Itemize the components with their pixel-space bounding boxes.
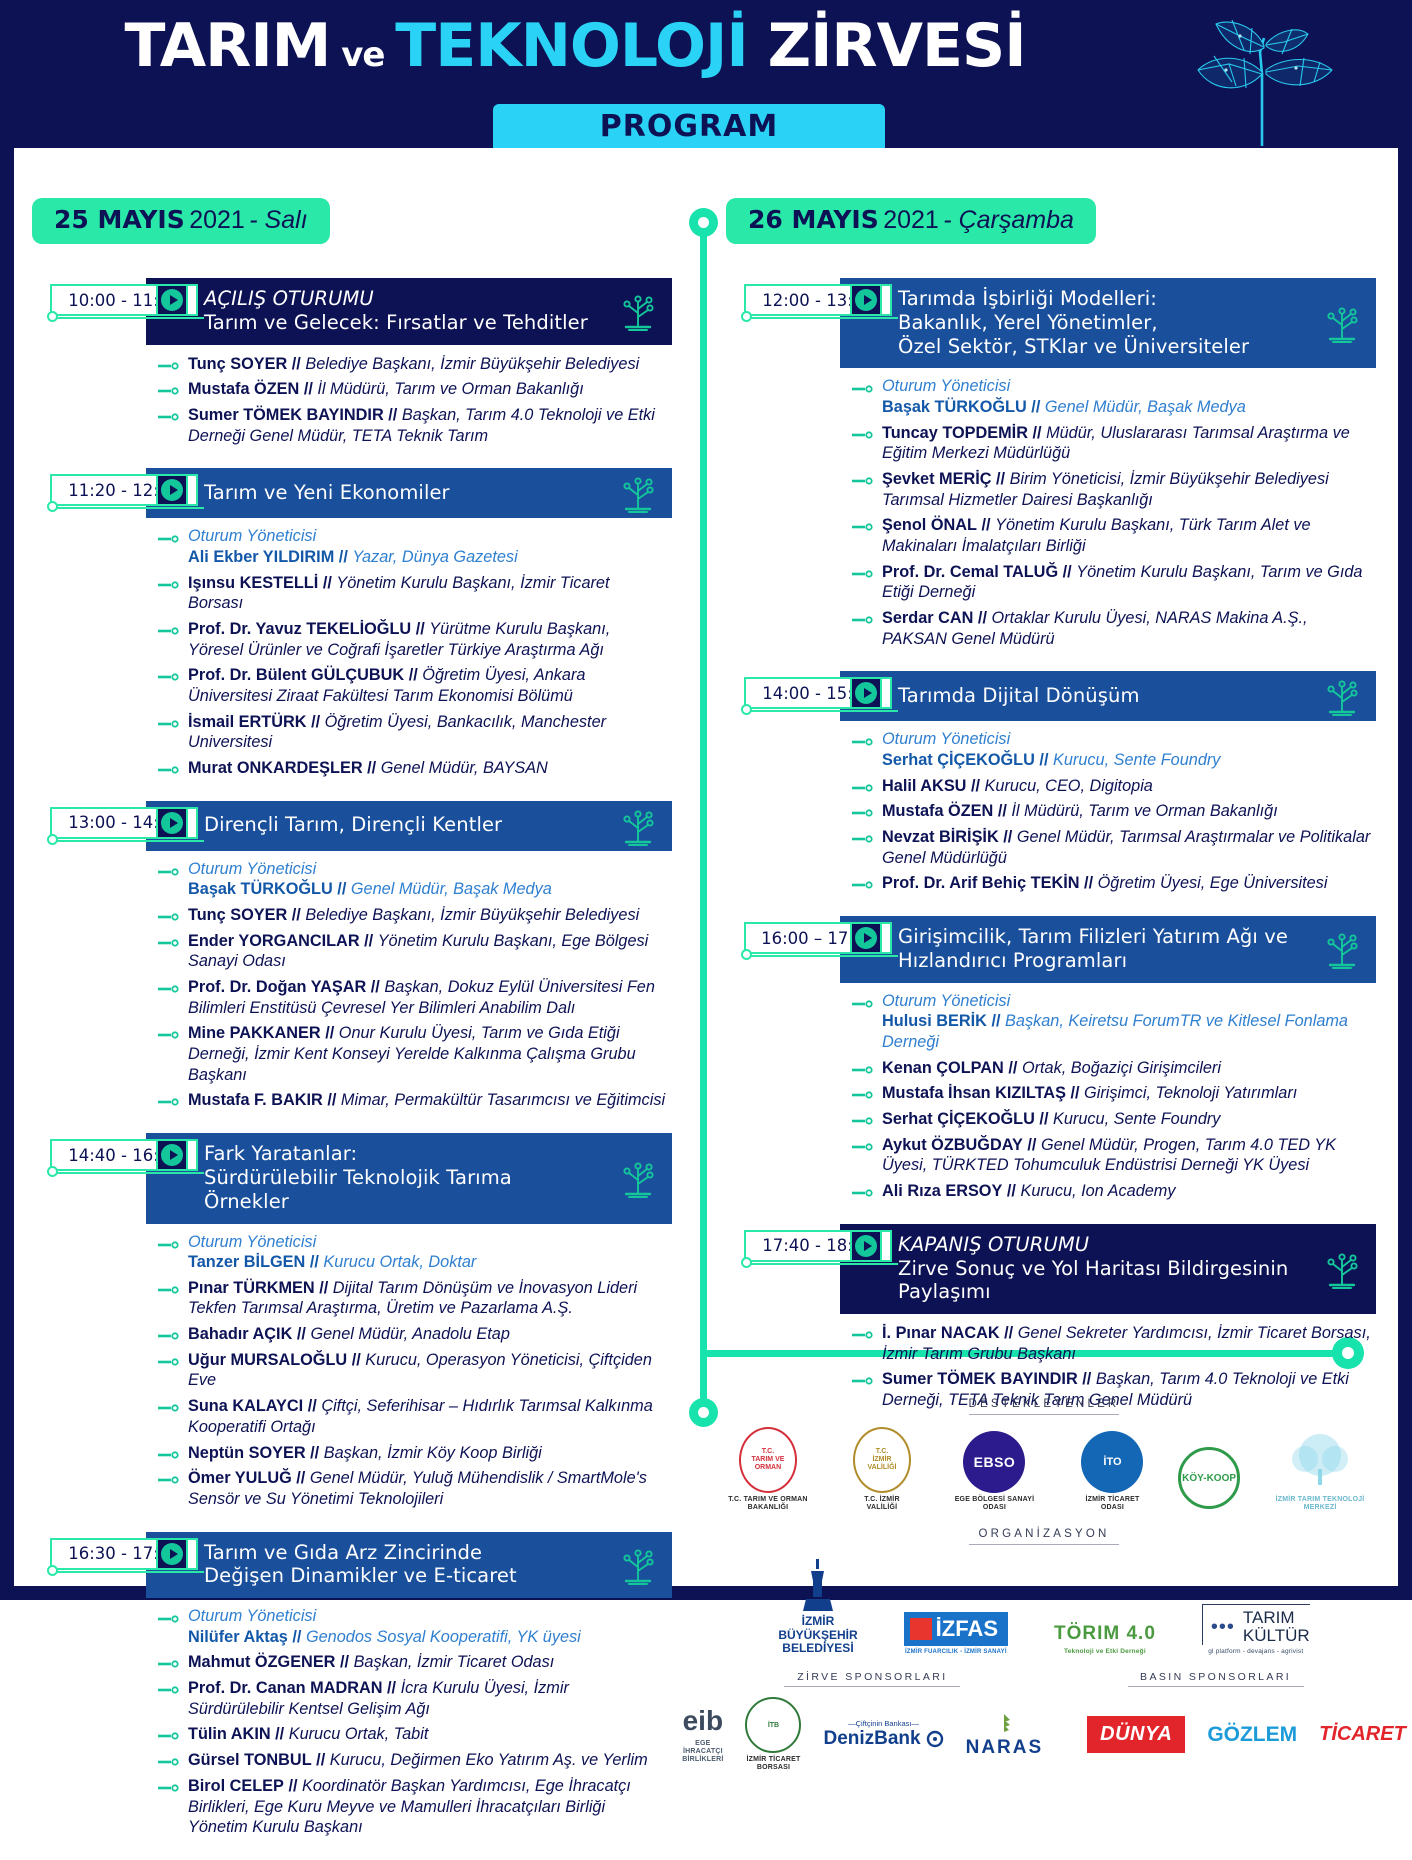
session-speaker: Bahadır AÇIK // Genel Müdür, Anadolu Eta…	[158, 1324, 668, 1345]
circuit-plant-icon	[1320, 1247, 1364, 1291]
separator: //	[319, 1279, 333, 1297]
izmir-buyuksehir-belediyesi-logo: İZMİR BÜYÜKŞEHİR BELEDİYESİ	[778, 1557, 857, 1655]
speaker-list: Oturum Yöneticisi Başak TÜRKOĞLU // Gene…	[158, 860, 672, 1111]
poster-frame: TARIM ve TEKNOLOJİ ZİRVESİ PROGRAM	[0, 0, 1412, 1600]
session-title-line: AÇILIŞ OTURUMU	[204, 287, 598, 311]
arrow-bullet-icon	[158, 1615, 180, 1623]
separator: //	[388, 406, 402, 424]
speaker-list: Oturum Yöneticisi Nilüfer Aktaş // Genod…	[158, 1607, 672, 1838]
session-speaker: Mustafa F. BAKIR // Mimar, Permakültür T…	[158, 1090, 668, 1111]
arrow-bullet-icon	[852, 881, 874, 889]
arrow-bullet-icon	[852, 523, 874, 531]
speaker-name: Sumer TÖMEK BAYINDIR	[882, 1370, 1078, 1388]
arrow-bullet-icon	[158, 673, 180, 681]
speaker-name: İ. Pınar NACAK	[882, 1324, 1000, 1342]
speaker-name: Şenol ÖNAL	[882, 516, 977, 534]
moderator-name: Serhat ÇİÇEKOĞLU	[882, 751, 1035, 769]
program-sheet: 25 MAYIS 2021 - Salı 10:00 - 11:00 AÇILI…	[14, 148, 1398, 1586]
speaker-name: Serhat ÇİÇEKOĞLU	[882, 1110, 1035, 1128]
speaker-name: Ali Rıza ERSOY	[882, 1182, 1002, 1200]
session-play-button[interactable]	[850, 1230, 882, 1262]
arrow-bullet-icon	[158, 985, 180, 993]
bottom-logo-row: eib EGE İHRACATÇI BİRLİKLERİ İTB İZMİR T…	[714, 1697, 1374, 1772]
arrow-bullet-icon	[158, 1098, 180, 1106]
speaker-role: Öğretim Üyesi, Ege Üniversitesi	[1098, 874, 1328, 892]
separator: //	[288, 1777, 302, 1795]
speaker-name: Işınsu KESTELLİ	[188, 574, 318, 592]
separator: //	[1032, 424, 1046, 442]
day-year: 2021	[189, 206, 245, 234]
speaker-name: Ender YORGANCILAR	[188, 932, 360, 950]
moderator-role: Kurucu Ortak, Doktar	[323, 1253, 476, 1271]
session-speaker: Mustafa İhsan KIZILTAŞ // Girişimci, Tek…	[852, 1083, 1372, 1104]
speaker-name: Sumer TÖMEK BAYINDIR	[188, 406, 384, 424]
session-moderator: Oturum Yöneticisi Tanzer BİLGEN // Kuruc…	[158, 1233, 668, 1273]
circuit-plant-icon	[616, 289, 660, 333]
session-title-line: Zirve Sonuç ve Yol Haritası Bildirgesini…	[898, 1257, 1302, 1305]
separator: //	[1007, 1182, 1021, 1200]
session-speaker: Tunç SOYER // Belediye Başkanı, İzmir Bü…	[158, 354, 668, 375]
arrow-bullet-icon	[158, 939, 180, 947]
circuit-plant-icon	[1320, 927, 1364, 971]
arrow-bullet-icon	[852, 809, 874, 817]
circuit-plant-icon	[1320, 674, 1364, 718]
session-speaker: Prof. Dr. Canan MADRAN // İcra Kurulu Üy…	[158, 1678, 668, 1719]
moderator-name: Tanzer BİLGEN	[188, 1253, 305, 1271]
arrow-bullet-icon	[852, 1000, 874, 1008]
sponsor-tier-headers: ZİRVE SPONSORLARI BASIN SPONSORLARI	[714, 1671, 1374, 1697]
session-speaker: Sumer TÖMEK BAYINDIR // Başkan, Tarım 4.…	[158, 405, 668, 446]
speaker-name: Gürsel TONBUL	[188, 1751, 312, 1769]
session-speaker: Serhat ÇİÇEKOĞLU // Kurucu, Sente Foundr…	[852, 1109, 1372, 1130]
separator: //	[308, 1397, 322, 1415]
summit-sponsors-title: ZİRVE SPONSORLARI	[714, 1671, 1031, 1683]
speaker-role: Kurucu, Sente Foundry	[1053, 1110, 1220, 1128]
moderator-role: Genel Müdür, Başak Medya	[351, 880, 552, 898]
speaker-list: Oturum Yöneticisi Hulusi BERİK // Başkan…	[852, 992, 1376, 1202]
gozlem-logo: GÖZLEM	[1207, 1723, 1297, 1747]
day-date: 25 MAYIS	[54, 205, 185, 234]
speaker-name: Serdar CAN	[882, 609, 973, 627]
separator: //	[996, 470, 1010, 488]
session-speaker: Prof. Dr. Yavuz TEKELİOĞLU // Yürütme Ku…	[158, 619, 668, 660]
moderator-label: Oturum Yöneticisi	[882, 992, 1372, 1012]
separator: //	[316, 1751, 330, 1769]
moderator-role: Genodos Sosyal Kooperatifi, YK üyesi	[306, 1628, 581, 1646]
session-speaker: Kenan ÇOLPAN // Ortak, Boğaziçi Girişimc…	[852, 1058, 1372, 1079]
session-speaker: Gürsel TONBUL // Kurucu, Değirmen Eko Ya…	[158, 1750, 668, 1771]
separator: //	[998, 802, 1012, 820]
session-header[interactable]: Tarımda İşbirliği Modelleri:Bakanlık, Ye…	[840, 278, 1376, 368]
press-sponsors-title: BASIN SPONSORLARI	[1057, 1671, 1374, 1683]
session-title-line: Dirençli Tarım, Dirençli Kentler	[204, 813, 598, 837]
speaker-role: Ortak, Boğaziçi Girişimcileri	[1022, 1059, 1221, 1077]
moderator-name: Ali Ekber YILDIRIM	[188, 548, 334, 566]
speaker-name: Prof. Dr. Yavuz TEKELİOĞLU	[188, 620, 411, 638]
timeline-dot-top	[689, 208, 718, 237]
circuit-plant-icon	[616, 1156, 660, 1200]
moderator-label: Oturum Yöneticisi	[188, 1233, 668, 1253]
separator: //	[1004, 1324, 1018, 1342]
separator: //	[387, 1679, 401, 1697]
session-speaker: İsmail ERTÜRK // Öğretim Üyesi, Bankacıl…	[158, 712, 668, 753]
izmir-tarim-teknoloji-merkezi-logo: İZMİR TARIM TEKNOLOJİ MERKEZİ	[1266, 1431, 1374, 1512]
arrow-bullet-icon	[158, 1784, 180, 1792]
tc-izmir-valiligi-logo: T.C.İZMİRVALİLİĞİ T.C. İZMİR VALİLİĞİ	[848, 1427, 916, 1512]
separator: //	[352, 1351, 366, 1369]
izfas-logo: İZFAS İZMİR FUARCILIK - İZMİR SANAYİ	[904, 1612, 1008, 1656]
session-moderator: Oturum Yöneticisi Serhat ÇİÇEKOĞLU // Ku…	[852, 730, 1372, 770]
circuit-plant-icon	[616, 1543, 660, 1587]
speaker-name: Uğur MURSALOĞLU	[188, 1351, 347, 1369]
session-title-line: Tarım ve Gelecek: Fırsatlar ve Tehditler	[204, 311, 598, 335]
arrow-bullet-icon	[852, 738, 874, 746]
speaker-role: Girişimci, Teknoloji Yatırımları	[1084, 1084, 1297, 1102]
speaker-name: Birol CELEP	[188, 1777, 284, 1795]
speaker-name: Suna KALAYCI	[188, 1397, 303, 1415]
speaker-name: Mustafa ÖZEN	[882, 802, 993, 820]
separator: //	[296, 1469, 310, 1487]
speaker-name: Prof. Dr. Canan MADRAN	[188, 1679, 382, 1697]
session-play-button[interactable]	[156, 807, 188, 839]
speaker-name: Halil AKSU	[882, 777, 966, 795]
separator: //	[409, 666, 423, 684]
speaker-name: Mustafa ÖZEN	[188, 380, 299, 398]
arrow-bullet-icon	[852, 1066, 874, 1074]
arrow-bullet-icon	[158, 1031, 180, 1039]
speaker-role: Başkan, İzmir Köy Koop Birliği	[324, 1444, 542, 1462]
session-block: 11:20 - 12:40 Tarım ve Yeni Ekonomiler	[32, 468, 672, 778]
session-header[interactable]: Girişimcilik, Tarım Filizleri Yatırım Ağ…	[840, 916, 1376, 983]
separator: //	[1039, 751, 1053, 769]
session-moderator: Oturum Yöneticisi Başak TÜRKOĞLU // Gene…	[158, 860, 668, 900]
arrow-bullet-icon	[852, 1377, 874, 1385]
moderator-name: Başak TÜRKOĞLU	[882, 398, 1027, 416]
tarim-kultur-logo: ••• TARIM KÜLTÜR gl platform - devajans …	[1202, 1604, 1310, 1655]
arrow-bullet-icon	[158, 413, 180, 421]
arrow-bullet-icon	[158, 1404, 180, 1412]
session-moderator: Oturum Yöneticisi Ali Ekber YILDIRIM // …	[158, 527, 668, 567]
speaker-name: Tuncay TOPDEMİR	[882, 424, 1028, 442]
session-title-line: Hızlandırıcı Programları	[898, 949, 1302, 973]
speaker-name: Prof. Dr. Doğan YAŞAR	[188, 978, 366, 996]
arrow-bullet-icon	[158, 868, 180, 876]
session-play-button[interactable]	[850, 677, 882, 709]
session-title-line: Bakanlık, Yerel Yönetimler,	[898, 311, 1302, 335]
supporters-title: DESTEKLEYENLER	[714, 1398, 1374, 1410]
supporters-block: DESTEKLEYENLER T.C.TARIM VEORMAN T.C. TA…	[714, 1398, 1374, 1512]
izmir-ticaret-borsasi-logo: İTB İZMİR TİCARET BORSASI	[745, 1697, 801, 1772]
session-title-line: Tarımda İşbirliği Modelleri:	[898, 287, 1302, 311]
separator: //	[304, 380, 318, 398]
session-play-button[interactable]	[156, 474, 188, 506]
session-title-line: Fark Yaratanlar:	[204, 1142, 598, 1166]
session-speaker: Şevket MERİÇ // Birim Yöneticisi, İzmir …	[852, 469, 1372, 510]
separator: //	[1027, 1136, 1041, 1154]
naras-logo: NARAS	[966, 1711, 1044, 1759]
arrow-bullet-icon	[852, 1143, 874, 1151]
arrow-bullet-icon	[852, 835, 874, 843]
session-speaker: Tuncay TOPDEMİR // Müdür, Uluslararası T…	[852, 423, 1372, 464]
session-title-line: KAPANIŞ OTURUMU	[898, 1233, 1302, 1257]
day-date: 26 MAYIS	[748, 205, 879, 234]
circuit-plant-icon	[616, 804, 660, 848]
session-moderator: Oturum Yöneticisi Hulusi BERİK // Başkan…	[852, 992, 1372, 1053]
arrow-bullet-icon	[158, 1241, 180, 1249]
session-speaker: Mahmut ÖZGENER // Başkan, İzmir Ticaret …	[158, 1652, 668, 1673]
page-title: TARIM ve TEKNOLOJİ ZİRVESİ	[0, 16, 1150, 76]
speaker-name: Mahmut ÖZGENER	[188, 1653, 335, 1671]
session-speaker: Pınar TÜRKMEN // Dijital Tarım Dönüşüm v…	[158, 1278, 668, 1319]
arrow-bullet-icon	[158, 1732, 180, 1740]
moderator-label: Oturum Yöneticisi	[188, 527, 668, 547]
session-header[interactable]: Tarım ve Gıda Arz ZincirindeDeğişen Dina…	[146, 1532, 672, 1599]
speaker-role: Kurucu, CEO, Digitopia	[985, 777, 1153, 795]
separator: //	[310, 1253, 324, 1271]
session-block: 16:00 – 17:20 Girişimcilik, Tarım Filizl…	[726, 916, 1376, 1202]
arrow-bullet-icon	[158, 1660, 180, 1668]
session-speaker: Nevzat BİRİŞİK // Genel Müdür, Tarımsal …	[852, 827, 1372, 868]
organization-logo-row: İZMİR BÜYÜKŞEHİR BELEDİYESİ İZFAS İZMİR …	[714, 1557, 1374, 1655]
speaker-role: Kurucu, Değirmen Eko Yatırım Aş. ve Yerl…	[330, 1751, 648, 1769]
session-play-button[interactable]	[850, 922, 882, 954]
session-play-button[interactable]	[156, 1538, 188, 1570]
session-block: 10:00 - 11:00 AÇILIŞ OTURUMUTarım ve Gel…	[32, 278, 672, 446]
session-speaker: Şenol ÖNAL // Yönetim Kurulu Başkanı, Tü…	[852, 515, 1372, 556]
session-block: 13:00 - 14:20 Dirençli Tarım, Dirençli K…	[32, 801, 672, 1111]
arrow-bullet-icon	[158, 766, 180, 774]
session-play-button[interactable]	[156, 1139, 188, 1171]
day-weekday: - Çarşamba	[943, 206, 1074, 234]
separator: //	[1008, 1059, 1022, 1077]
tc-tarim-orman-bakanligi-logo: T.C.TARIM VEORMAN T.C. TARIM VE ORMAN BA…	[714, 1427, 822, 1512]
session-speaker: Mine PAKKANER // Onur Kurulu Üyesi, Tarı…	[158, 1023, 668, 1085]
session-speaker: Mustafa ÖZEN // İl Müdürü, Tarım ve Orma…	[852, 801, 1372, 822]
separator: //	[1082, 1370, 1096, 1388]
arrow-bullet-icon	[852, 1331, 874, 1339]
arrow-bullet-icon	[852, 616, 874, 624]
arrow-bullet-icon	[158, 720, 180, 728]
speaker-name: Prof. Dr. Bülent GÜLÇUBUK	[188, 666, 404, 684]
supporters-logo-row: T.C.TARIM VEORMAN T.C. TARIM VE ORMAN BA…	[714, 1427, 1374, 1512]
sponsors-section: DESTEKLEYENLER T.C.TARIM VEORMAN T.C. TA…	[714, 1398, 1374, 1773]
speaker-name: Mine PAKKANER	[188, 1024, 321, 1042]
arrow-bullet-icon	[158, 1286, 180, 1294]
moderator-label: Oturum Yöneticisi	[188, 1607, 668, 1627]
session-speaker: Prof. Dr. Doğan YAŞAR // Başkan, Dokuz E…	[158, 977, 668, 1018]
separator: //	[1039, 1110, 1053, 1128]
koy-koop-logo: KÖY-KOOP	[1178, 1447, 1240, 1512]
moderator-label: Oturum Yöneticisi	[882, 730, 1372, 750]
session-title-line: Tarım ve Yeni Ekonomiler	[204, 481, 598, 505]
separator: //	[416, 620, 430, 638]
session-header[interactable]: Dirençli Tarım, Dirençli Kentler	[146, 801, 672, 851]
separator: //	[292, 355, 306, 373]
arrow-bullet-icon	[158, 535, 180, 543]
speaker-role: Başkan, İzmir Ticaret Odası	[354, 1653, 555, 1671]
eib-logo: eib EGE İHRACATÇI BİRLİKLERİ	[682, 1705, 723, 1764]
ticaret-gazetesi-logo: TİCARET	[1319, 1723, 1406, 1746]
moderator-name: Nilüfer Aktaş	[188, 1628, 288, 1646]
dunya-gazetesi-logo: DÜNYA	[1087, 1716, 1185, 1753]
session-header[interactable]: KAPANIŞ OTURUMUZirve Sonuç ve Yol Harita…	[840, 1224, 1376, 1314]
session-speaker: Aykut ÖZBUĞDAY // Genel Müdür, Progen, T…	[852, 1135, 1372, 1176]
denizbank-wheel-icon	[926, 1730, 944, 1748]
session-title-line: Sürdürülebilir Teknolojik Tarıma Örnekle…	[204, 1166, 598, 1214]
moderator-name: Hulusi BERİK	[882, 1012, 987, 1030]
speaker-name: Mustafa İhsan KIZILTAŞ	[882, 1084, 1066, 1102]
program-badge: PROGRAM	[493, 104, 885, 148]
separator: //	[971, 777, 985, 795]
arrow-bullet-icon	[158, 581, 180, 589]
day-badge: 25 MAYIS 2021 - Salı	[32, 198, 330, 244]
naras-leaf-icon	[991, 1711, 1017, 1737]
speaker-name: Tunç SOYER	[188, 906, 287, 924]
speaker-list: Tunç SOYER // Belediye Başkanı, İzmir Bü…	[158, 354, 672, 447]
speaker-role: Belediye Başkanı, İzmir Büyükşehir Beled…	[305, 355, 639, 373]
separator: //	[339, 548, 353, 566]
session-block: 14:00 - 15:40 Tarımda Dijital Dönüşüm	[726, 671, 1376, 894]
session-speaker: Uğur MURSALOĞLU // Kurucu, Operasyon Yön…	[158, 1350, 668, 1391]
title-part1: TARIM	[124, 11, 330, 81]
session-speaker: Suna KALAYCI // Çiftçi, Seferihisar – Hı…	[158, 1396, 668, 1437]
arrow-bullet-icon	[158, 913, 180, 921]
title-ve: ve	[330, 35, 395, 75]
session-speaker: Ender YORGANCILAR // Yönetim Kurulu Başk…	[158, 931, 668, 972]
separator: //	[292, 906, 306, 924]
clock-tower-icon	[800, 1557, 836, 1615]
speaker-name: Kenan ÇOLPAN	[882, 1059, 1004, 1077]
speaker-name: İsmail ERTÜRK	[188, 713, 307, 731]
session-speaker: Birol CELEP // Koordinatör Başkan Yardım…	[158, 1776, 668, 1838]
separator: //	[1031, 398, 1045, 416]
day-column-right: 26 MAYIS 2021 - Çarşamba 12:00 - 13:40 T…	[726, 198, 1376, 1433]
arrow-bullet-icon	[852, 477, 874, 485]
session-speaker: Ömer YULUĞ // Genel Müdür, Yuluğ Mühendi…	[158, 1468, 668, 1509]
separator: //	[367, 759, 381, 777]
separator: //	[978, 609, 992, 627]
session-header[interactable]: Tarımda Dijital Dönüşüm	[840, 671, 1376, 721]
separator: //	[323, 574, 337, 592]
speaker-role: Genel Müdür, Anadolu Etap	[310, 1325, 509, 1343]
speaker-name: Neptün SOYER	[188, 1444, 306, 1462]
speaker-name: Ömer YULUĞ	[188, 1469, 292, 1487]
circuit-plant-icon	[1320, 301, 1364, 345]
separator: //	[1084, 874, 1098, 892]
session-block: 16:30 - 17:50 Tarım ve Gıda Arz Zincirin…	[32, 1532, 672, 1838]
speaker-role: İl Müdürü, Tarım ve Orman Bakanlığı	[317, 380, 583, 398]
session-block: 12:00 - 13:40 Tarımda İşbirliği Modeller…	[726, 278, 1376, 649]
arrow-bullet-icon	[852, 570, 874, 578]
arrow-bullet-icon	[158, 1451, 180, 1459]
speaker-role: Kurucu Ortak, Tabit	[289, 1725, 429, 1743]
moderator-label: Oturum Yöneticisi	[188, 860, 668, 880]
session-header[interactable]: Tarım ve Yeni Ekonomiler	[146, 468, 672, 518]
session-title-line: Tarım ve Gıda Arz Zincirinde	[204, 1541, 598, 1565]
speaker-list: Oturum Yöneticisi Tanzer BİLGEN // Kuruc…	[158, 1233, 672, 1510]
poster-header: TARIM ve TEKNOLOJİ ZİRVESİ PROGRAM	[0, 0, 1412, 148]
speaker-name: Tunç SOYER	[188, 355, 287, 373]
arrow-bullet-icon	[852, 1117, 874, 1125]
separator: //	[364, 932, 378, 950]
speaker-name: Aykut ÖZBUĞDAY	[882, 1136, 1023, 1154]
session-title-line: Özel Sektör, STKlar ve Üniversiteler	[898, 335, 1302, 359]
speaker-role: İl Müdürü, Tarım ve Orman Bakanlığı	[1011, 802, 1277, 820]
speaker-list: Oturum Yöneticisi Serhat ÇİÇEKOĞLU // Ku…	[852, 730, 1376, 894]
session-speaker: Tülin AKIN // Kurucu Ortak, Tabit	[158, 1724, 668, 1745]
session-moderator: Oturum Yöneticisi Başak TÜRKOĞLU // Gene…	[852, 377, 1372, 417]
arrow-bullet-icon	[158, 1358, 180, 1366]
speaker-role: Mimar, Permakültür Tasarımcısı ve Eğitim…	[341, 1091, 665, 1109]
session-moderator: Oturum Yöneticisi Nilüfer Aktaş // Genod…	[158, 1607, 668, 1647]
speaker-name: Nevzat BİRİŞİK	[882, 828, 999, 846]
arrow-bullet-icon	[158, 1332, 180, 1340]
arrow-bullet-icon	[158, 387, 180, 395]
title-part3: ZİRVESİ	[768, 11, 1026, 81]
separator: //	[982, 516, 996, 534]
session-block: 17:40 - 18:30 KAPANIŞ OTURUMUZirve Sonuç…	[726, 1224, 1376, 1411]
speaker-name: Tülin AKIN	[188, 1725, 271, 1743]
session-play-button[interactable]	[850, 284, 882, 316]
session-play-button[interactable]	[156, 284, 188, 316]
arrow-bullet-icon	[852, 784, 874, 792]
moderator-role: Genel Müdür, Başak Medya	[1045, 398, 1246, 416]
izmir-ticaret-odasi-logo: İTO İZMİR TİCARET ODASI	[1073, 1431, 1152, 1512]
separator: //	[1070, 1084, 1084, 1102]
separator: //	[292, 1628, 306, 1646]
speaker-role: Genel Müdür, BAYSAN	[381, 759, 548, 777]
arrow-bullet-icon	[158, 362, 180, 370]
session-speaker: Prof. Dr. Arif Behiç TEKİN // Öğretim Üy…	[852, 873, 1372, 894]
separator: //	[325, 1024, 339, 1042]
session-title-line: Girişimcilik, Tarım Filizleri Yatırım Ağ…	[898, 925, 1302, 949]
session-header[interactable]: Fark Yaratanlar:Sürdürülebilir Teknoloji…	[146, 1133, 672, 1223]
program-badge-label: PROGRAM	[600, 109, 778, 144]
session-header[interactable]: AÇILIŞ OTURUMUTarım ve Gelecek: Fırsatla…	[146, 278, 672, 345]
session-speaker: Ali Rıza ERSOY // Kurucu, Ion Academy	[852, 1181, 1372, 1202]
separator: //	[340, 1653, 354, 1671]
moderator-role: Yazar, Dünya Gazetesi	[352, 548, 517, 566]
moderator-label: Oturum Yöneticisi	[882, 377, 1372, 397]
session-speaker: Neptün SOYER // Başkan, İzmir Köy Koop B…	[158, 1443, 668, 1464]
moderator-role: Kurucu, Sente Foundry	[1053, 751, 1220, 769]
organization-block: ORGANİZASYON İZMİR BÜYÜKŞEHİR BELEDİYESİ	[714, 1528, 1374, 1655]
speaker-name: Mustafa F. BAKIR	[188, 1091, 323, 1109]
timeline-connector	[688, 208, 718, 1574]
ebso-logo: EBSO EGE BÖLGESİ SANAYİ ODASI	[942, 1431, 1047, 1512]
session-speaker: Prof. Dr. Bülent GÜLÇUBUK // Öğretim Üye…	[158, 665, 668, 706]
session-title-line: Değişen Dinamikler ve E-ticaret	[204, 1564, 598, 1588]
separator: //	[310, 1444, 324, 1462]
arrow-bullet-icon	[158, 627, 180, 635]
tree-icon	[1277, 1431, 1363, 1493]
separator: //	[337, 880, 351, 898]
speaker-name: Prof. Dr. Arif Behiç TEKİN	[882, 874, 1080, 892]
speaker-name: Bahadır AÇIK	[188, 1325, 292, 1343]
session-speaker: Mustafa ÖZEN // İl Müdürü, Tarım ve Orma…	[158, 379, 668, 400]
speaker-name: Prof. Dr. Cemal TALUĞ	[882, 563, 1058, 581]
separator: //	[311, 713, 325, 731]
separator: //	[275, 1725, 289, 1743]
speaker-name: Murat ONKARDEŞLER	[188, 759, 363, 777]
denizbank-logo: —Çiftçinin Bankası— DenizBank	[823, 1719, 943, 1750]
moderator-name: Başak TÜRKOĞLU	[188, 880, 333, 898]
separator: //	[371, 978, 385, 996]
speaker-role: Kurucu, Ion Academy	[1020, 1182, 1175, 1200]
separator: //	[327, 1091, 341, 1109]
session-speaker: Murat ONKARDEŞLER // Genel Müdür, BAYSAN	[158, 758, 668, 779]
arrow-bullet-icon	[852, 385, 874, 393]
